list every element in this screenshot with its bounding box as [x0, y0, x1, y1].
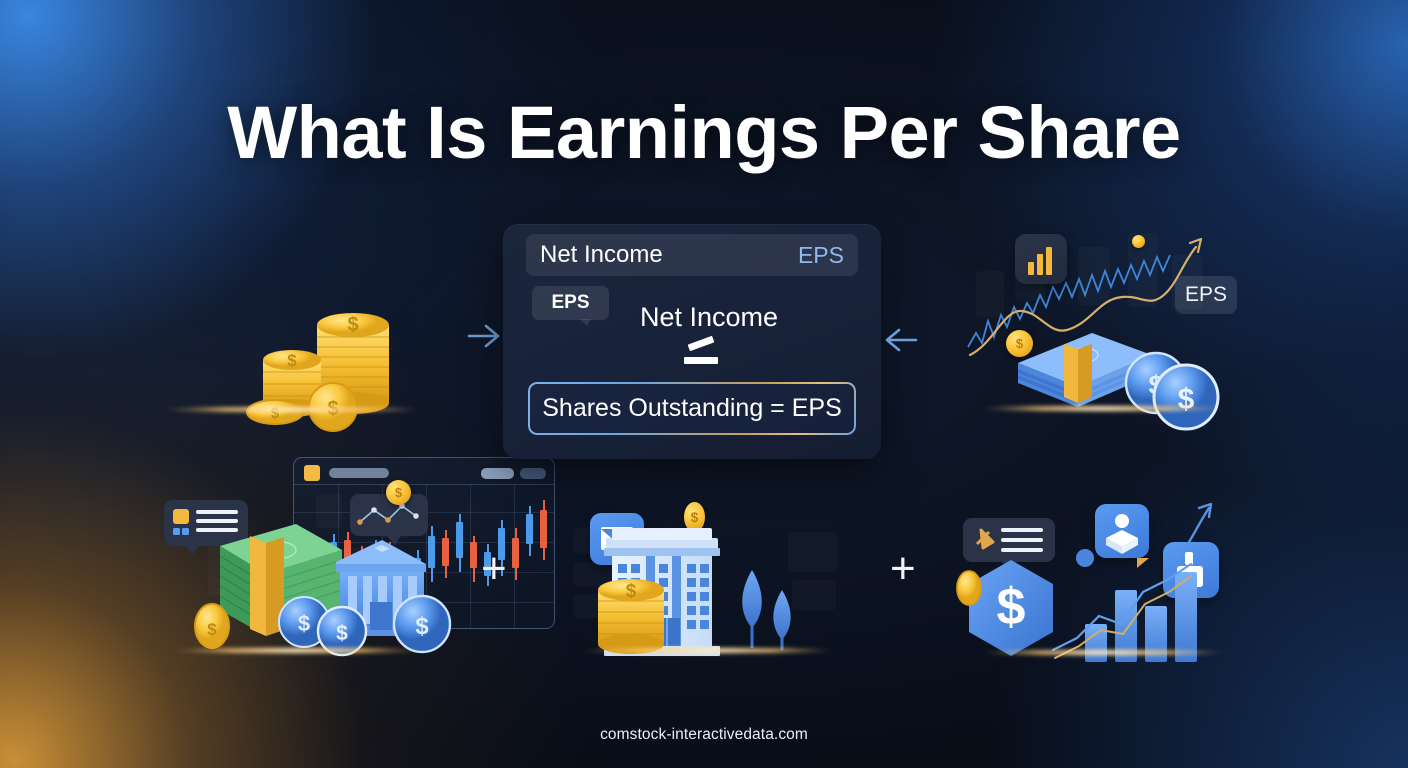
formula-numerator: Net Income	[503, 302, 881, 333]
tooltip-coin: $	[386, 480, 411, 505]
gold-coin-stacks: $ $ $ $	[255, 295, 435, 425]
arrow-left-icon	[883, 326, 917, 354]
illustration-glow	[980, 406, 1225, 411]
svg-text:$: $	[1178, 383, 1195, 416]
illustration-value-growth: $	[955, 480, 1250, 665]
bar-chart-icon	[1015, 234, 1067, 284]
svg-text:$: $	[298, 611, 310, 636]
svg-text:$: $	[207, 620, 217, 639]
illustration-eps-growth: $ EPS	[960, 225, 1250, 420]
card-header-badge: EPS	[798, 242, 844, 269]
floating-coin	[1132, 235, 1145, 248]
arrow-right-icon	[468, 322, 502, 350]
eps-badge-right: EPS	[1175, 276, 1237, 314]
division-symbol-icon	[684, 338, 734, 372]
blue-cash-stack: $ $	[1006, 311, 1226, 431]
illustration-glow	[981, 650, 1225, 655]
formula-denominator-box: Shares Outstanding = EPS	[528, 382, 856, 435]
svg-text:$: $	[997, 578, 1026, 636]
plus-sign-left: +	[481, 547, 507, 591]
eps-badge-right-label: EPS	[1185, 283, 1227, 307]
card-header: Net Income EPS	[526, 234, 858, 276]
window-button-2	[520, 468, 546, 479]
cash-and-bank-illustration: $ $ $ $	[154, 518, 444, 648]
card-header-label: Net Income	[540, 241, 663, 269]
illustration-glow	[162, 407, 420, 412]
illustration-glow	[172, 648, 422, 653]
window-dot-icon	[304, 465, 320, 481]
illustration-cash-bank: $	[150, 480, 445, 665]
value-bar-chart: $	[955, 546, 1245, 666]
page-title: What Is Earnings Per Share	[0, 96, 1408, 170]
formula-card: Net Income EPS EPS Net Income Shares Out…	[503, 224, 881, 459]
formula-denominator-label: Shares Outstanding = EPS	[542, 394, 842, 423]
infographic-canvas: What Is Earnings Per Share	[0, 0, 1408, 768]
illustration-glow	[582, 648, 834, 653]
svg-text:$: $	[347, 314, 358, 336]
svg-text:$: $	[415, 613, 429, 640]
svg-text:$: $	[287, 351, 297, 370]
illustration-corporate-building: $	[560, 480, 855, 665]
footer-url: comstock-interactivedata.com	[0, 726, 1408, 744]
svg-text:$: $	[626, 581, 637, 602]
illustration-candlestick-coins: $ $ $ $	[140, 225, 440, 420]
window-title-placeholder	[329, 468, 389, 478]
plus-sign-right: +	[890, 547, 916, 591]
svg-text:$: $	[336, 622, 348, 645]
window-button-1	[481, 468, 514, 479]
